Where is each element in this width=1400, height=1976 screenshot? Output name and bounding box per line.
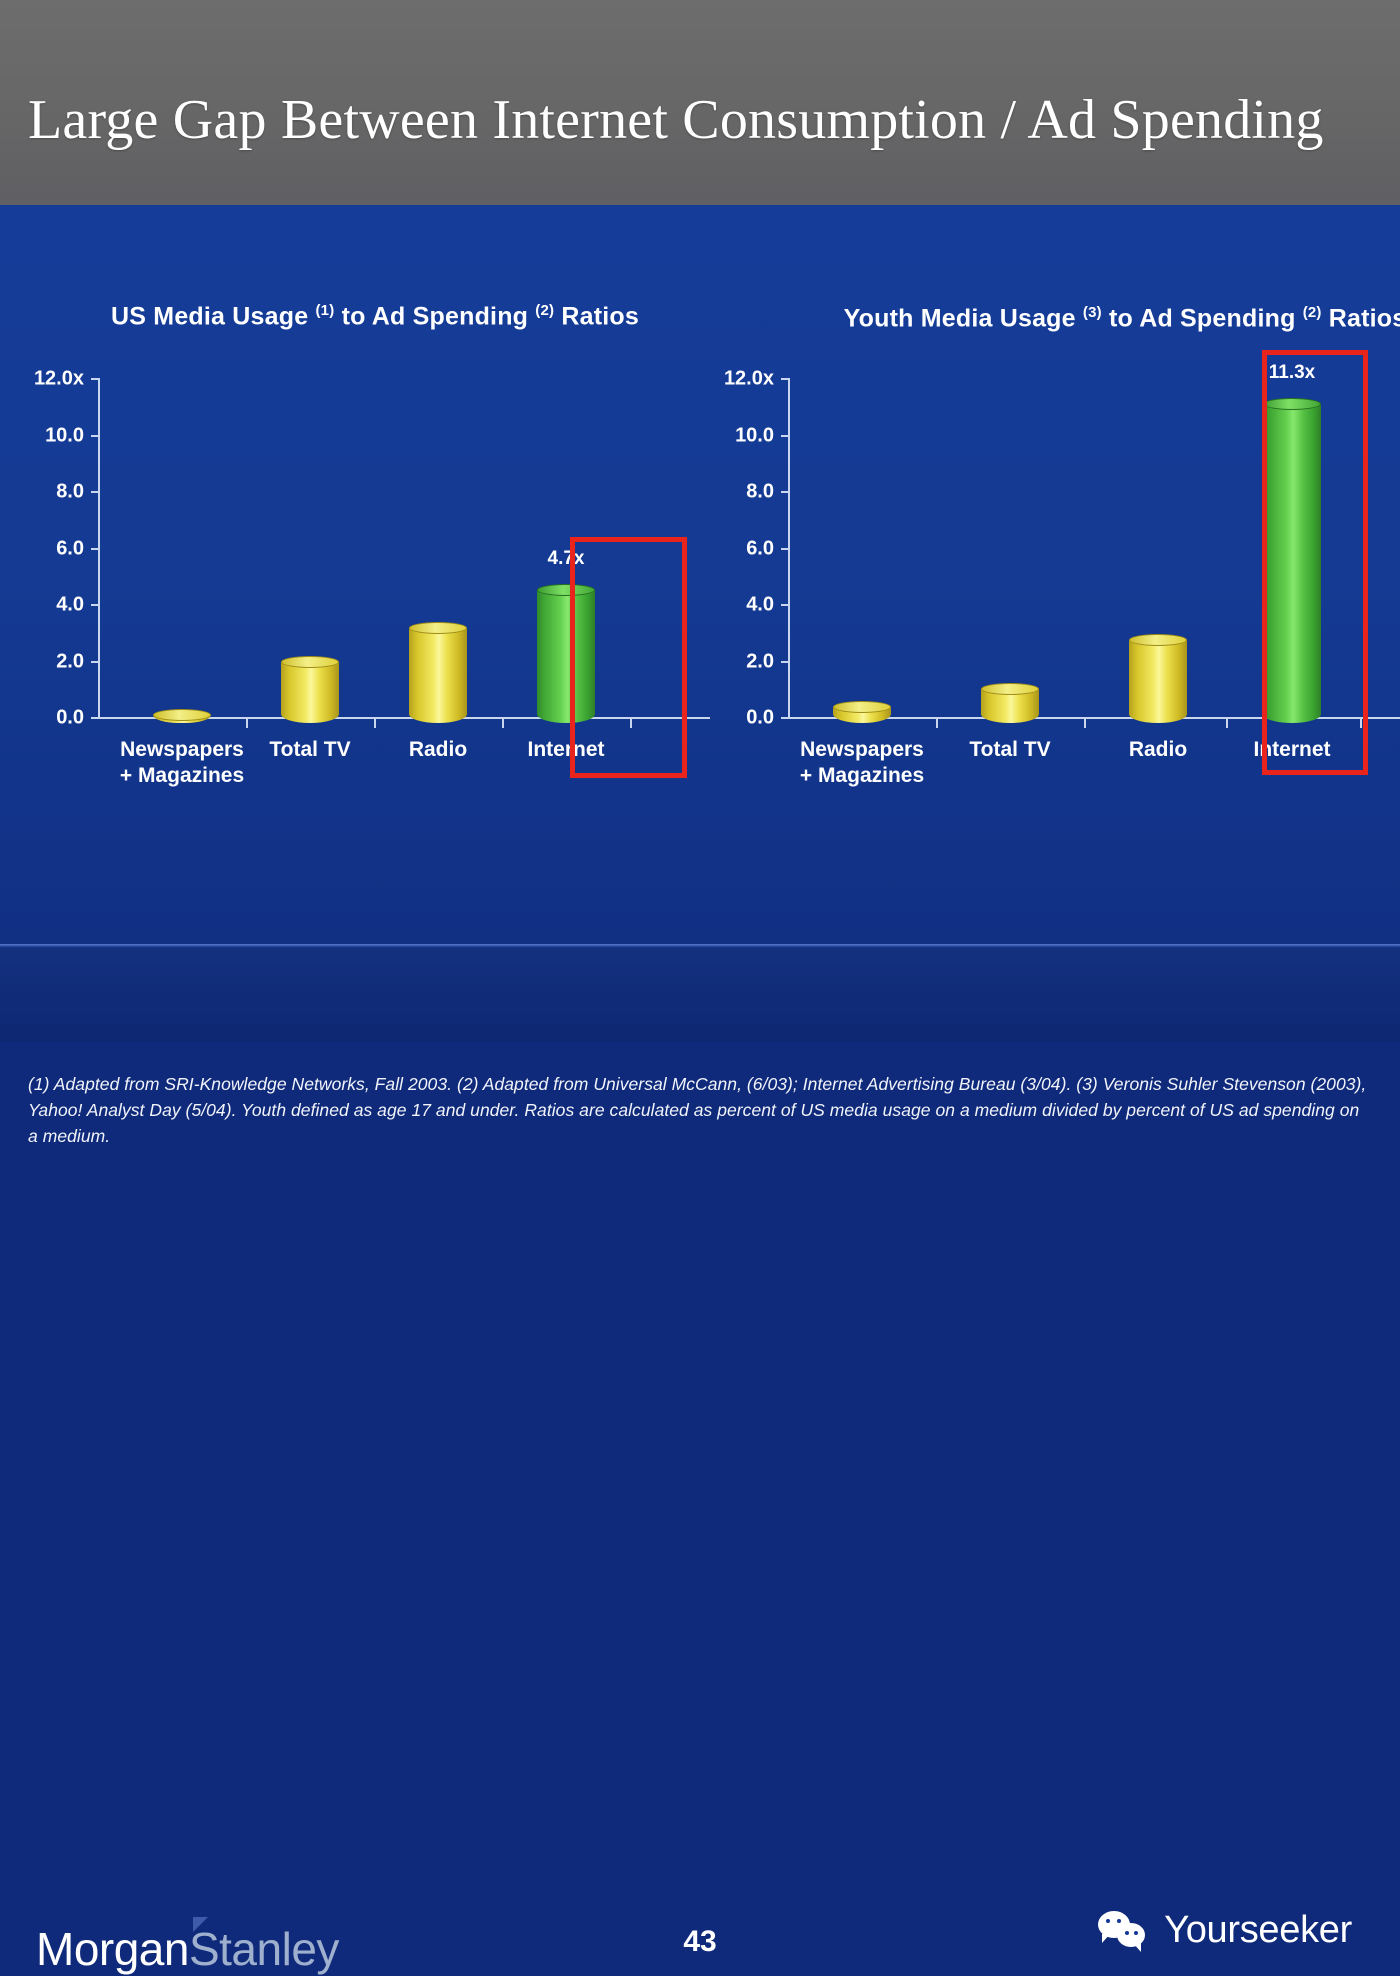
- x-axis-tick: [1226, 719, 1228, 728]
- x-axis-tick: [936, 719, 938, 728]
- wechat-icon: [1098, 1911, 1152, 1951]
- bar-value-label: 11.3x: [1269, 362, 1316, 384]
- y-axis-tick: [91, 378, 99, 380]
- y-axis-tick-label: 8.0: [746, 481, 774, 504]
- y-axis-tick: [91, 717, 99, 719]
- chart-panel-youth-media: Youth Media Usage (3) to Ad Spending (2)…: [710, 205, 1400, 805]
- x-axis-tick: [1084, 719, 1086, 728]
- plot-area-youth-media: 12.0x10.08.06.04.02.00.0Newspapers+ Maga…: [710, 205, 1400, 805]
- bar: [281, 656, 339, 723]
- y-axis-tick-label: 6.0: [56, 537, 84, 560]
- x-axis-tick: [246, 719, 248, 728]
- y-axis-tick-label: 0.0: [56, 707, 84, 730]
- y-axis-tick: [91, 661, 99, 663]
- y-axis-tick-label: 2.0: [56, 650, 84, 673]
- slide: Large Gap Between Internet Consumption /…: [0, 0, 1400, 1042]
- y-axis-tick: [781, 548, 789, 550]
- y-axis-tick-label: 2.0: [746, 650, 774, 673]
- y-axis-tick-label: 10.0: [735, 424, 774, 447]
- chart-panel-us-media: US Media Usage (1) to Ad Spending (2) Ra…: [20, 205, 710, 805]
- y-axis-tick-label: 12.0x: [34, 368, 84, 391]
- y-axis-tick-label: 4.0: [56, 594, 84, 617]
- plot-area-us-media: 12.0x10.08.06.04.02.00.0Newspapers+ Maga…: [20, 205, 710, 805]
- y-axis-tick: [781, 717, 789, 719]
- bar: [153, 709, 211, 723]
- bar-highlighted: [537, 584, 595, 723]
- brand-watermark: Yourseeker: [1098, 1909, 1352, 1952]
- bar: [981, 683, 1039, 723]
- slide-title: Large Gap Between Internet Consumption /…: [28, 88, 1378, 152]
- x-axis-category-label: Internet: [1182, 737, 1400, 763]
- bar: [833, 701, 891, 723]
- x-axis-tick: [630, 719, 632, 728]
- y-axis-tick: [781, 604, 789, 606]
- y-axis-tick: [781, 378, 789, 380]
- bar: [409, 622, 467, 723]
- y-axis-tick: [781, 435, 789, 437]
- y-axis-tick: [91, 435, 99, 437]
- y-axis-tick-label: 6.0: [746, 537, 774, 560]
- footnote-text: (1) Adapted from SRI-Knowledge Networks,…: [28, 1071, 1373, 1149]
- x-axis-tick: [1360, 719, 1362, 728]
- slide-footer: MorganStanley 43 Yourseeker: [0, 947, 1400, 1042]
- slide-body: US Media Usage (1) to Ad Spending (2) Ra…: [0, 205, 1400, 1042]
- y-axis-tick-label: 0.0: [746, 707, 774, 730]
- bar: [1129, 634, 1187, 723]
- x-axis-tick: [502, 719, 504, 728]
- x-axis-tick: [374, 719, 376, 728]
- y-axis-tick-label: 4.0: [746, 594, 774, 617]
- y-axis-tick: [781, 491, 789, 493]
- y-axis-tick-label: 12.0x: [724, 368, 774, 391]
- bar-highlighted: [1263, 398, 1321, 723]
- title-band: Large Gap Between Internet Consumption /…: [0, 0, 1400, 205]
- y-axis-tick: [91, 548, 99, 550]
- x-axis-category-label: Internet: [456, 737, 676, 763]
- y-axis-tick: [91, 491, 99, 493]
- y-axis-tick: [781, 661, 789, 663]
- brand-label: Yourseeker: [1164, 1909, 1352, 1952]
- y-axis-tick: [91, 604, 99, 606]
- bar-value-label: 4.7x: [548, 548, 585, 570]
- y-axis-tick-label: 10.0: [45, 424, 84, 447]
- y-axis-tick-label: 8.0: [56, 481, 84, 504]
